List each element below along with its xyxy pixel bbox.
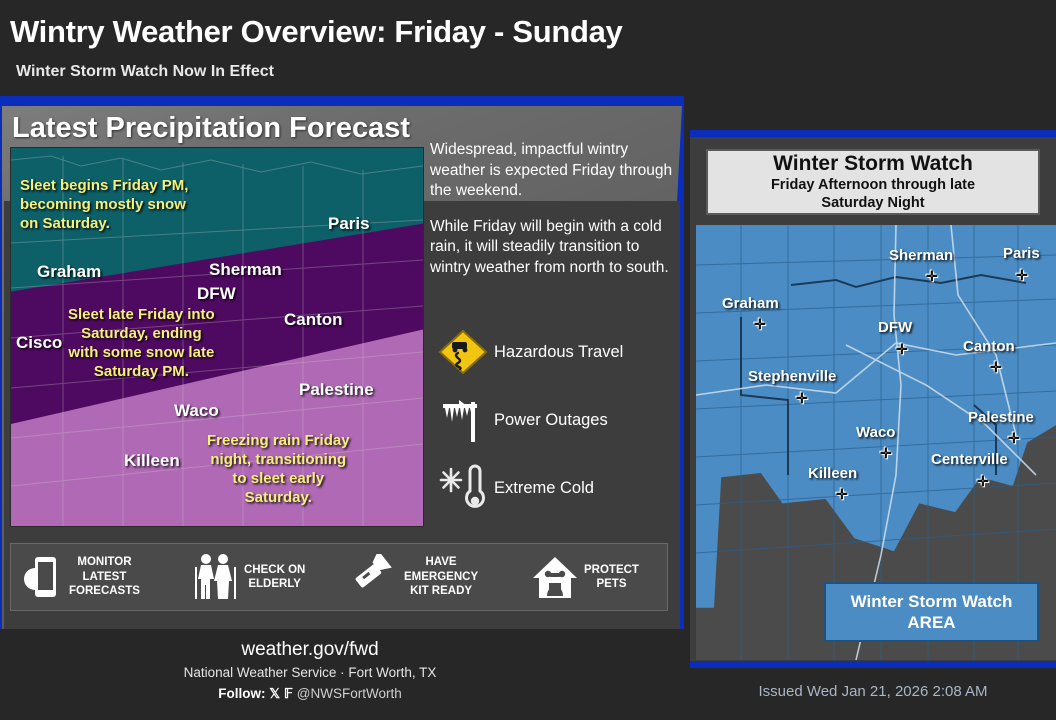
right-panel: Winter Storm Watch Friday Afternoon thro… bbox=[690, 130, 1056, 668]
page-title: Wintry Weather Overview: Friday - Sunday bbox=[10, 14, 622, 50]
winter-storm-watch-map[interactable]: Sherman✛Paris✛Graham✛DFW✛Canton✛Stephenv… bbox=[696, 225, 1056, 660]
watch-map-city-label: Sherman bbox=[889, 247, 953, 264]
facebook-icon[interactable]: 𝔽 bbox=[284, 686, 293, 701]
precip-map-city-label: Sherman bbox=[209, 260, 282, 280]
prep-item-emergency-kit: HAVE EMERGENCY KIT READY bbox=[346, 544, 526, 610]
precip-map-city-label: Cisco bbox=[16, 333, 62, 353]
precipitation-forecast-map[interactable]: ShermanParisGrahamDFWCantonCiscoPalestin… bbox=[11, 148, 423, 526]
snowflake-thermometer-icon bbox=[432, 463, 494, 513]
iced-power-line-icon bbox=[432, 396, 494, 444]
summary-text: Widespread, impactful wintry weather is … bbox=[430, 140, 680, 293]
watch-map-city-label: Stephenville bbox=[748, 368, 836, 385]
prep-label: PROTECT PETS bbox=[584, 563, 639, 592]
city-marker-icon: ✛ bbox=[836, 486, 848, 503]
weather-graphic: Wintry Weather Overview: Friday - Sunday… bbox=[0, 0, 1056, 720]
elderly-couple-icon bbox=[186, 552, 244, 602]
header: Wintry Weather Overview: Friday - Sunday… bbox=[0, 0, 1056, 90]
footer-url[interactable]: weather.gov/fwd bbox=[130, 639, 490, 661]
city-marker-icon: ✛ bbox=[977, 473, 989, 490]
watch-map-city-label: Waco bbox=[856, 424, 895, 441]
prep-label: HAVE EMERGENCY KIT READY bbox=[404, 555, 478, 599]
precip-map-annotation: Sleet late Friday intoSaturday, endingwi… bbox=[68, 305, 215, 381]
precip-map-city-label: Waco bbox=[174, 401, 219, 421]
issued-timestamp: Issued Wed Jan 21, 2026 2:08 AM bbox=[690, 683, 1056, 700]
watch-map-city-label: Graham bbox=[722, 295, 779, 312]
city-marker-icon: ✛ bbox=[896, 341, 908, 358]
city-marker-icon: ✛ bbox=[1008, 430, 1020, 447]
city-marker-icon: ✛ bbox=[754, 316, 766, 333]
watch-banner-title: Winter Storm Watch bbox=[773, 152, 973, 176]
hazard-label: Hazardous Travel bbox=[494, 343, 623, 362]
prep-item-monitor: MONITOR LATEST FORECASTS bbox=[11, 544, 186, 610]
city-marker-icon: ✛ bbox=[926, 268, 938, 285]
precip-map-annotation: Sleet begins Friday PM,becoming mostly s… bbox=[20, 176, 188, 233]
watch-map-city-label: DFW bbox=[878, 319, 912, 336]
watch-map-city-label: Paris bbox=[1003, 245, 1040, 262]
footer-office: National Weather Service · Fort Worth, T… bbox=[100, 665, 520, 680]
prep-item-elderly: CHECK ON ELDERLY bbox=[186, 544, 346, 610]
watch-map-city-label: Centerville bbox=[931, 451, 1008, 468]
precip-map-city-label: Killeen bbox=[124, 451, 180, 471]
hazard-label: Power Outages bbox=[494, 411, 608, 430]
prep-item-pets: PROTECT PETS bbox=[526, 544, 666, 610]
smartphone-icon bbox=[11, 554, 69, 600]
precip-map-city-label: Palestine bbox=[299, 380, 374, 400]
watch-banner: Winter Storm Watch Friday Afternoon thro… bbox=[706, 149, 1040, 215]
precip-map-city-label: Paris bbox=[328, 214, 370, 234]
watch-banner-subtitle: Friday Afternoon through late Saturday N… bbox=[771, 176, 975, 212]
x-twitter-icon[interactable]: 𝕏 bbox=[269, 686, 280, 701]
pet-house-icon bbox=[526, 554, 584, 600]
prep-label: MONITOR LATEST FORECASTS bbox=[69, 555, 140, 599]
city-marker-icon: ✛ bbox=[880, 445, 892, 462]
city-marker-icon: ✛ bbox=[1016, 267, 1028, 284]
summary-paragraph-1: Widespread, impactful wintry weather is … bbox=[430, 140, 680, 202]
flashlight-icon bbox=[346, 554, 404, 600]
legend-line-2: AREA bbox=[907, 612, 955, 633]
hazard-label: Extreme Cold bbox=[494, 479, 594, 498]
hazard-row-hazardous-travel: Hazardous Travel bbox=[432, 322, 682, 382]
city-marker-icon: ✛ bbox=[990, 359, 1002, 376]
watch-area-legend: Winter Storm Watch AREA bbox=[824, 582, 1039, 642]
precip-map-city-label: Graham bbox=[37, 262, 101, 282]
precip-map-city-label: Canton bbox=[284, 310, 343, 330]
precip-map-city-label: DFW bbox=[197, 284, 236, 304]
watch-map-city-label: Canton bbox=[963, 338, 1015, 355]
slippery-road-icon bbox=[432, 329, 494, 375]
preparedness-bar: MONITOR LATEST FORECASTS CHECK ON ELDERL… bbox=[10, 543, 668, 611]
footer: NATIONAL · SERVICE · weather.gov/fwd Nat… bbox=[0, 629, 690, 720]
watch-map-city-label: Killeen bbox=[808, 465, 857, 482]
precip-forecast-title: Latest Precipitation Forecast bbox=[12, 112, 410, 145]
city-marker-icon: ✛ bbox=[796, 390, 808, 407]
precip-map-annotation: Freezing rain Fridaynight, transitioning… bbox=[207, 431, 350, 507]
page-subtitle: Winter Storm Watch Now In Effect bbox=[16, 63, 274, 81]
hazard-row-power-outages: Power Outages bbox=[432, 390, 682, 450]
summary-paragraph-2: While Friday will begin with a cold rain… bbox=[430, 217, 680, 279]
prep-label: CHECK ON ELDERLY bbox=[244, 563, 305, 592]
footer-follow: Follow: 𝕏 𝔽 @NWSFortWorth bbox=[110, 686, 510, 702]
legend-line-1: Winter Storm Watch bbox=[851, 591, 1013, 612]
watch-map-city-label: Palestine bbox=[968, 409, 1034, 426]
hazard-row-extreme-cold: Extreme Cold bbox=[432, 458, 682, 518]
follow-label: Follow: bbox=[218, 686, 265, 701]
social-handle[interactable]: @NWSFortWorth bbox=[297, 686, 402, 701]
